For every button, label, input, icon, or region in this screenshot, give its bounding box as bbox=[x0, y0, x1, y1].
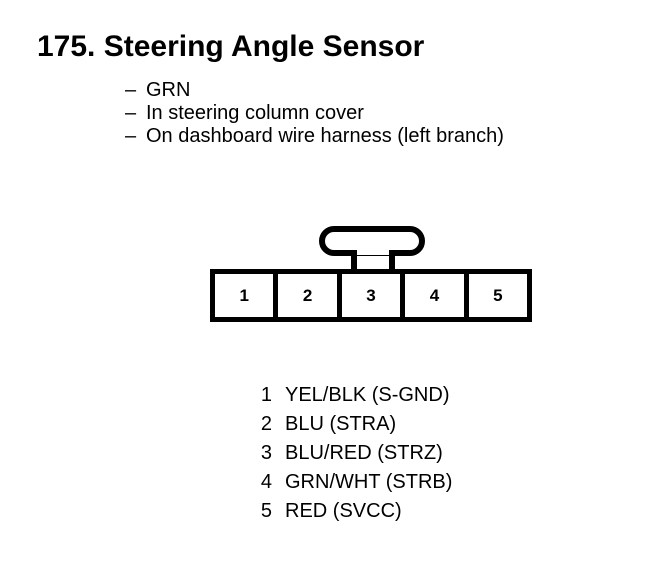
diagram-page: 175. Steering Angle Sensor –GRN –In stee… bbox=[0, 0, 672, 586]
pin-legend-label: BLU/RED (STRZ) bbox=[272, 439, 443, 468]
description-line: –On dashboard wire harness (left branch) bbox=[125, 125, 645, 148]
description-line-text: GRN bbox=[146, 79, 190, 101]
pin-legend-number: 1 bbox=[240, 381, 272, 410]
pin-legend: 1YEL/BLK (S-GND) 2BLU (STRA) 3BLU/RED (S… bbox=[240, 381, 540, 526]
connector-latch-icon bbox=[210, 226, 535, 274]
description-line-text: On dashboard wire harness (left branch) bbox=[146, 125, 504, 147]
description-list: –GRN –In steering column cover –On dashb… bbox=[125, 79, 645, 148]
connector-pin-number: 5 bbox=[493, 287, 502, 304]
bullet-dash-icon: – bbox=[125, 125, 146, 148]
connector-pin-number: 4 bbox=[430, 287, 439, 304]
pin-legend-row: 1YEL/BLK (S-GND) bbox=[240, 381, 540, 410]
description-line: –In steering column cover bbox=[125, 102, 645, 125]
pin-legend-row: 5RED (SVCC) bbox=[240, 497, 540, 526]
page-title: 175. Steering Angle Sensor bbox=[37, 29, 424, 65]
pin-legend-label: GRN/WHT (STRB) bbox=[272, 468, 452, 497]
pin-legend-label: BLU (STRA) bbox=[272, 410, 396, 439]
connector-pin-cell[interactable]: 1 bbox=[215, 274, 278, 317]
connector-pin-cell[interactable]: 5 bbox=[469, 274, 527, 317]
pin-legend-row: 3BLU/RED (STRZ) bbox=[240, 439, 540, 468]
pin-legend-row: 4GRN/WHT (STRB) bbox=[240, 468, 540, 497]
pin-legend-number: 3 bbox=[240, 439, 272, 468]
connector-pin-cell[interactable]: 2 bbox=[278, 274, 341, 317]
pin-legend-number: 5 bbox=[240, 497, 272, 526]
pin-legend-label: YEL/BLK (S-GND) bbox=[272, 381, 449, 410]
connector-diagram: 1 2 3 4 5 bbox=[210, 226, 535, 326]
connector-pin-number: 3 bbox=[366, 287, 375, 304]
bullet-dash-icon: – bbox=[125, 79, 146, 102]
description-line-text: In steering column cover bbox=[146, 102, 364, 124]
pin-legend-number: 4 bbox=[240, 468, 272, 497]
pin-legend-label: RED (SVCC) bbox=[272, 497, 402, 526]
connector-pin-cell[interactable]: 4 bbox=[405, 274, 468, 317]
connector-pin-number: 1 bbox=[239, 287, 248, 304]
bullet-dash-icon: – bbox=[125, 102, 146, 125]
pin-legend-row: 2BLU (STRA) bbox=[240, 410, 540, 439]
connector-pin-number: 2 bbox=[303, 287, 312, 304]
description-line: –GRN bbox=[125, 79, 645, 102]
pin-legend-number: 2 bbox=[240, 410, 272, 439]
connector-pin-cell[interactable]: 3 bbox=[342, 274, 405, 317]
connector-pin-row: 1 2 3 4 5 bbox=[210, 269, 532, 322]
